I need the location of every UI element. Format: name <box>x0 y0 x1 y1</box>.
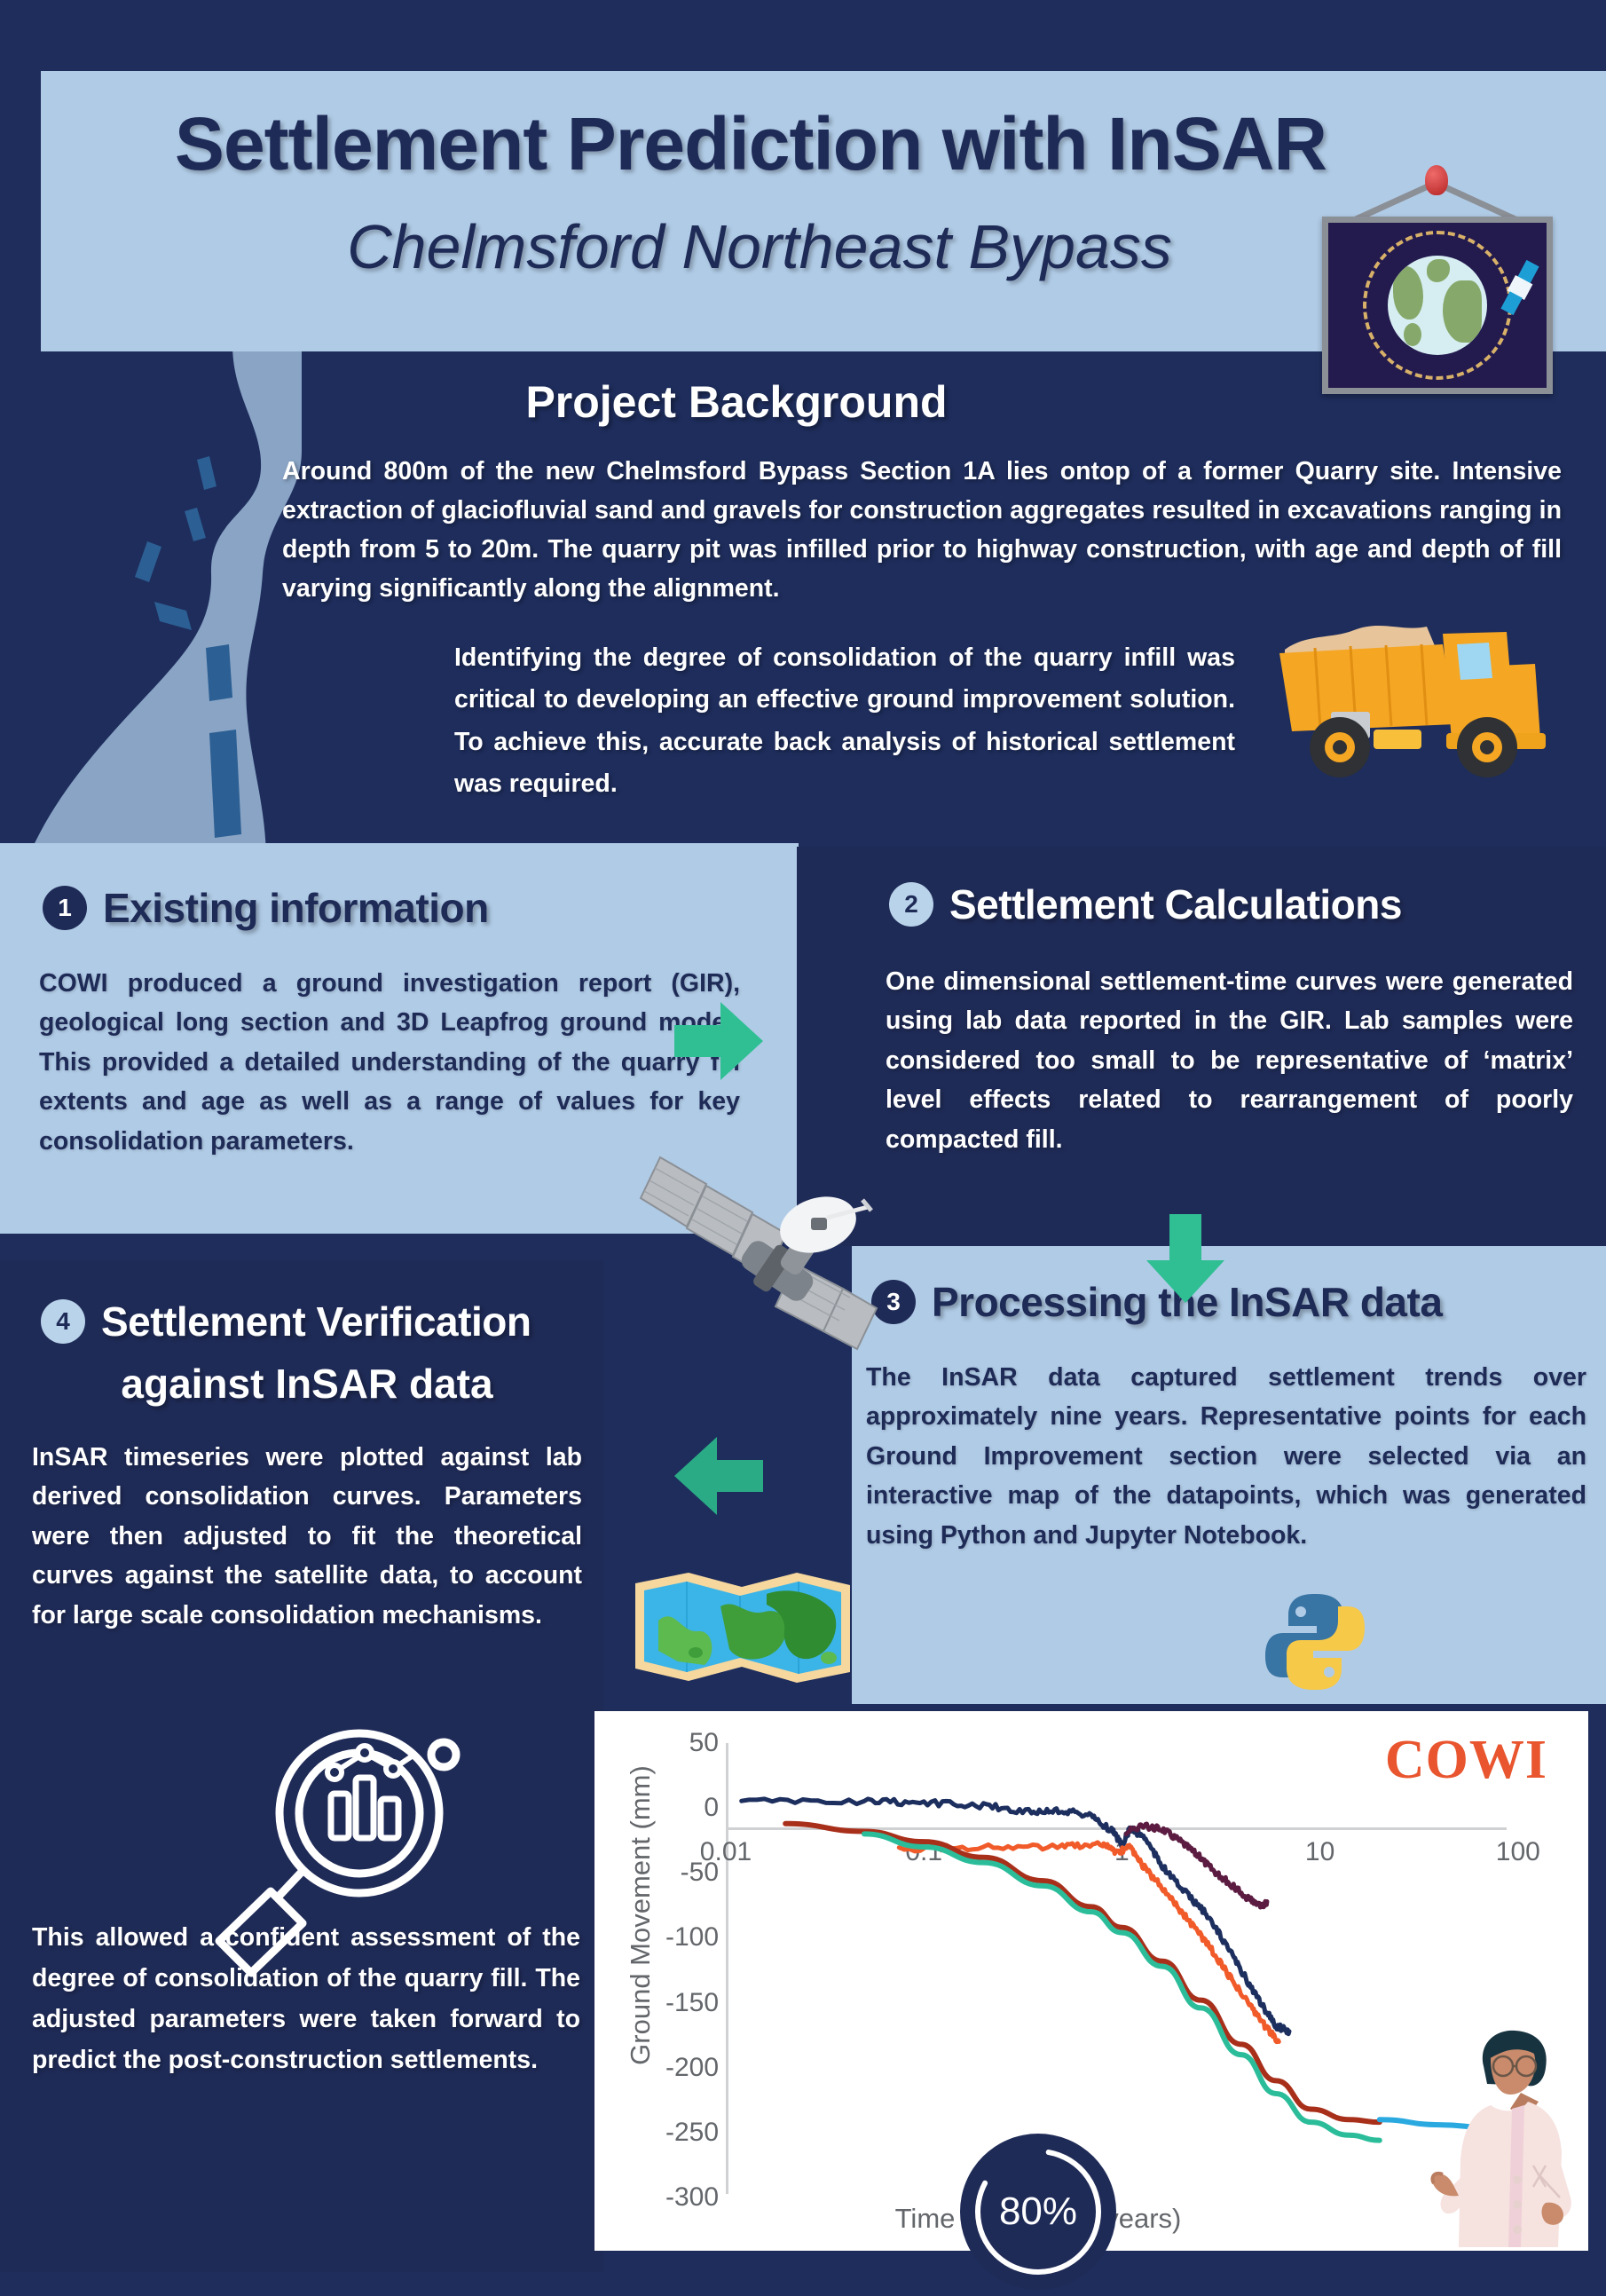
project-background-heading: Project Background <box>293 376 1180 428</box>
road-illustration <box>0 344 302 861</box>
satellite-icon <box>621 1147 887 1413</box>
chart-y-tick: -100 <box>612 1922 719 1953</box>
scientist-illustration <box>1429 2020 1588 2251</box>
arrow-step2-to-step3-icon <box>1143 1214 1228 1307</box>
project-background-paragraph-2: Identifying the degree of consolidation … <box>454 637 1235 805</box>
chart-y-tick-labels: 500-50-100-150-200-250-300 <box>612 1711 719 2251</box>
chart-y-tick: 50 <box>612 1728 719 1758</box>
chart-y-tick: -250 <box>612 2118 719 2148</box>
step-4-badge: 4 <box>41 1299 85 1344</box>
step-4-header: 4 Settlement Verification <box>41 1298 573 1345</box>
step-4-title-line-1: Settlement Verification <box>101 1298 531 1345</box>
step-2-body: One dimensional settlement-time curves w… <box>886 962 1573 1159</box>
page-title: Settlement Prediction with InSAR <box>41 101 1460 187</box>
chart-series-line <box>785 1824 1380 2122</box>
chart-series-line <box>864 1834 1380 2140</box>
chart-series-line <box>742 1799 1289 2034</box>
step-2-header: 2 Settlement Calculations <box>889 880 1402 928</box>
globe-icon <box>1388 256 1487 355</box>
python-logo-icon <box>1262 1589 1368 1695</box>
settlement-chart-card: COWI Ground Movement (mm) Time Since Inf… <box>594 1711 1588 2251</box>
chart-y-tick: -300 <box>612 2182 719 2213</box>
push-pin-icon <box>1425 165 1448 195</box>
step-1-badge: 1 <box>43 886 87 930</box>
folded-map-icon <box>632 1569 854 1685</box>
poster-canvas: Settlement Prediction with InSAR Chelmsf… <box>0 0 1606 2272</box>
frame-image <box>1322 217 1553 394</box>
chart-y-tick: -150 <box>612 1988 719 2018</box>
project-background-paragraph-1: Around 800m of the new Chelmsford Bypass… <box>282 453 1562 609</box>
step-2-title: Settlement Calculations <box>949 880 1402 928</box>
step-1-title: Existing information <box>103 884 489 932</box>
magnifier-chart-icon <box>182 1717 484 1984</box>
chart-y-tick: -200 <box>612 2053 719 2083</box>
step-3-body: The InSAR data captured settlement trend… <box>866 1358 1586 1555</box>
step-1-header: 1 Existing information <box>43 884 489 932</box>
page-subtitle: Chelmsford Northeast Bypass <box>41 211 1478 282</box>
donut-gauge-label: 80% <box>958 2132 1118 2292</box>
step-1-body: COWI produced a ground investigation rep… <box>39 964 740 1161</box>
step-2-panel: 2 Settlement Calculations One dimensiona… <box>797 847 1606 1246</box>
arrow-step3-to-step4-icon <box>674 1433 763 1523</box>
step-2-badge: 2 <box>889 882 933 927</box>
step-3-panel: 3 Processing the InSAR data The InSAR da… <box>852 1246 1606 1704</box>
completion-donut-gauge: 80% <box>958 2132 1118 2292</box>
dump-truck-icon <box>1269 612 1562 781</box>
step-4-body: InSAR timeseries were plotted against la… <box>32 1438 582 1635</box>
satellite-orbit-picture-frame <box>1303 165 1569 449</box>
step-4-title-line-2: against InSAR data <box>41 1360 573 1408</box>
chart-y-tick: 0 <box>612 1793 719 1823</box>
arrow-step1-to-step2-icon <box>674 998 763 1088</box>
